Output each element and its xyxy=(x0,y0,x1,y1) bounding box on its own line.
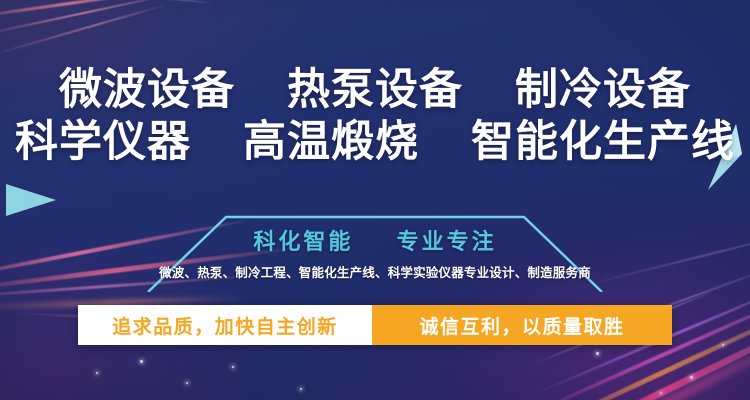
slogan-left[interactable]: 追求品质，加快自主创新 xyxy=(78,305,372,345)
triangle-right-icon xyxy=(6,184,56,216)
slogan-right[interactable]: 诚信互利，以质量取胜 xyxy=(372,305,672,345)
headline-word: 制冷设备 xyxy=(515,64,691,116)
headline-word: 科学仪器 xyxy=(15,116,191,168)
slogan-bar-group: 追求品质，加快自主创新 诚信互利，以质量取胜 xyxy=(78,305,672,345)
page-title: 微波设备 热泵设备 制冷设备 科学仪器 高温煅烧 智能化生产线 xyxy=(0,64,750,168)
headline-line-2: 科学仪器 高温煅烧 智能化生产线 xyxy=(0,116,750,168)
subtitle-right: 专业专注 xyxy=(397,230,497,255)
headline-line-1: 微波设备 热泵设备 制冷设备 xyxy=(0,64,750,116)
headline-word: 智能化生产线 xyxy=(471,116,735,168)
promo-banner: 微波设备 热泵设备 制冷设备 科学仪器 高温煅烧 智能化生产线 科化智能 专业专… xyxy=(0,0,750,400)
headline-word: 热泵设备 xyxy=(287,64,463,116)
subtitle-left: 科化智能 xyxy=(253,230,353,255)
description-line: 微波、热泵、制冷工程、智能化生产线、科学实验仪器专业设计、制造服务商 xyxy=(70,262,680,281)
trapezoid-frame: 科化智能 专业专注 微波、热泵、制冷工程、智能化生产线、科学实验仪器专业设计、制… xyxy=(130,214,620,292)
subtitle: 科化智能 专业专注 xyxy=(130,224,620,256)
headline-word: 微波设备 xyxy=(59,64,235,116)
headline-word: 高温煅烧 xyxy=(243,116,419,168)
